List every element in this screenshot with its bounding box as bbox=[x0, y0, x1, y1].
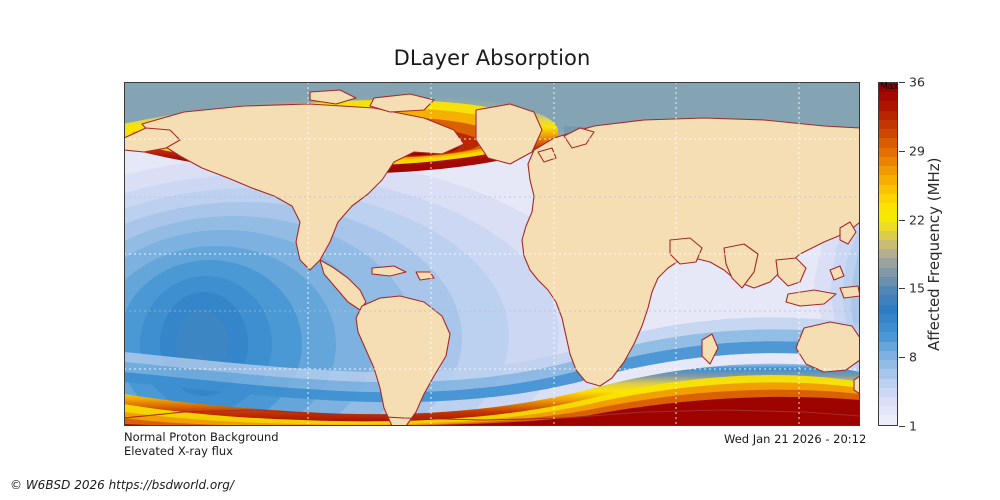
status-line-proton: Normal Proton Background bbox=[124, 430, 279, 444]
colorbar-band bbox=[879, 138, 897, 147]
colorbar-band bbox=[879, 314, 897, 323]
colorbar-band bbox=[879, 342, 897, 351]
colorbar-band bbox=[879, 101, 897, 110]
colorbar-band bbox=[879, 415, 897, 424]
colorbar-band bbox=[879, 369, 897, 378]
colorbar-tick-mark bbox=[899, 426, 905, 427]
colorbar-band bbox=[879, 194, 897, 203]
colorbar-band bbox=[879, 379, 897, 388]
colorbar-band bbox=[879, 351, 897, 360]
colorbar-tick-label: 15 bbox=[909, 281, 925, 296]
colorbar-tick-mark bbox=[899, 151, 905, 152]
colorbar-tick-label: 36 bbox=[909, 75, 925, 90]
colorbar-axis-label: Affected Frequency (MHz) bbox=[924, 82, 944, 426]
colorbar-max-label: Max bbox=[880, 82, 899, 93]
colorbar-band bbox=[879, 406, 897, 415]
colorbar-band bbox=[879, 397, 897, 406]
colorbar-band bbox=[879, 120, 897, 129]
colorbar-band bbox=[879, 148, 897, 157]
page-title: DLayer Absorption bbox=[124, 46, 860, 70]
timestamp-label: Wed Jan 21 2026 - 20:12 bbox=[724, 432, 866, 446]
world-map-plot[interactable] bbox=[124, 82, 860, 426]
colorbar-tick-label: 8 bbox=[909, 350, 917, 365]
colorbar-tick-mark bbox=[899, 357, 905, 358]
colorbar-band bbox=[879, 360, 897, 369]
copyright-label: © W6BSD 2026 https://bsdworld.org/ bbox=[10, 478, 234, 492]
dlayer-absorption-figure: DLayer Absorption bbox=[0, 0, 1000, 500]
colorbar-band bbox=[879, 305, 897, 314]
colorbar-tick-label: 1 bbox=[909, 419, 917, 434]
colorbar-band bbox=[879, 332, 897, 341]
colorbar-band bbox=[879, 203, 897, 212]
colorbar-band bbox=[879, 111, 897, 120]
colorbar-band bbox=[879, 212, 897, 221]
colorbar-band bbox=[879, 175, 897, 184]
colorbar-band bbox=[879, 323, 897, 332]
colorbar-band bbox=[879, 129, 897, 138]
colorbar-band bbox=[879, 240, 897, 249]
colorbar-band bbox=[879, 388, 897, 397]
colorbar-band bbox=[879, 258, 897, 267]
status-notes: Normal Proton Background Elevated X-ray … bbox=[124, 430, 279, 458]
colorbar-band bbox=[879, 286, 897, 295]
colorbar-band bbox=[879, 249, 897, 258]
colorbar-tick-mark bbox=[899, 288, 905, 289]
colorbar-band bbox=[879, 166, 897, 175]
colorbar-band bbox=[879, 222, 897, 231]
colorbar-band bbox=[879, 277, 897, 286]
colorbar-tick-mark bbox=[899, 220, 905, 221]
colorbar-tick-mark bbox=[899, 82, 905, 83]
colorbar-band bbox=[879, 231, 897, 240]
colorbar-tick-label: 22 bbox=[909, 212, 925, 227]
colorbar-tick-label: 29 bbox=[909, 143, 925, 158]
map-layers bbox=[124, 82, 860, 426]
colorbar-band bbox=[879, 268, 897, 277]
colorbar-band bbox=[879, 185, 897, 194]
colorbar[interactable] bbox=[878, 82, 898, 426]
colorbar-band bbox=[879, 92, 897, 101]
status-line-xray: Elevated X-ray flux bbox=[124, 444, 279, 458]
colorbar-band bbox=[879, 157, 897, 166]
colorbar-band bbox=[879, 295, 897, 304]
